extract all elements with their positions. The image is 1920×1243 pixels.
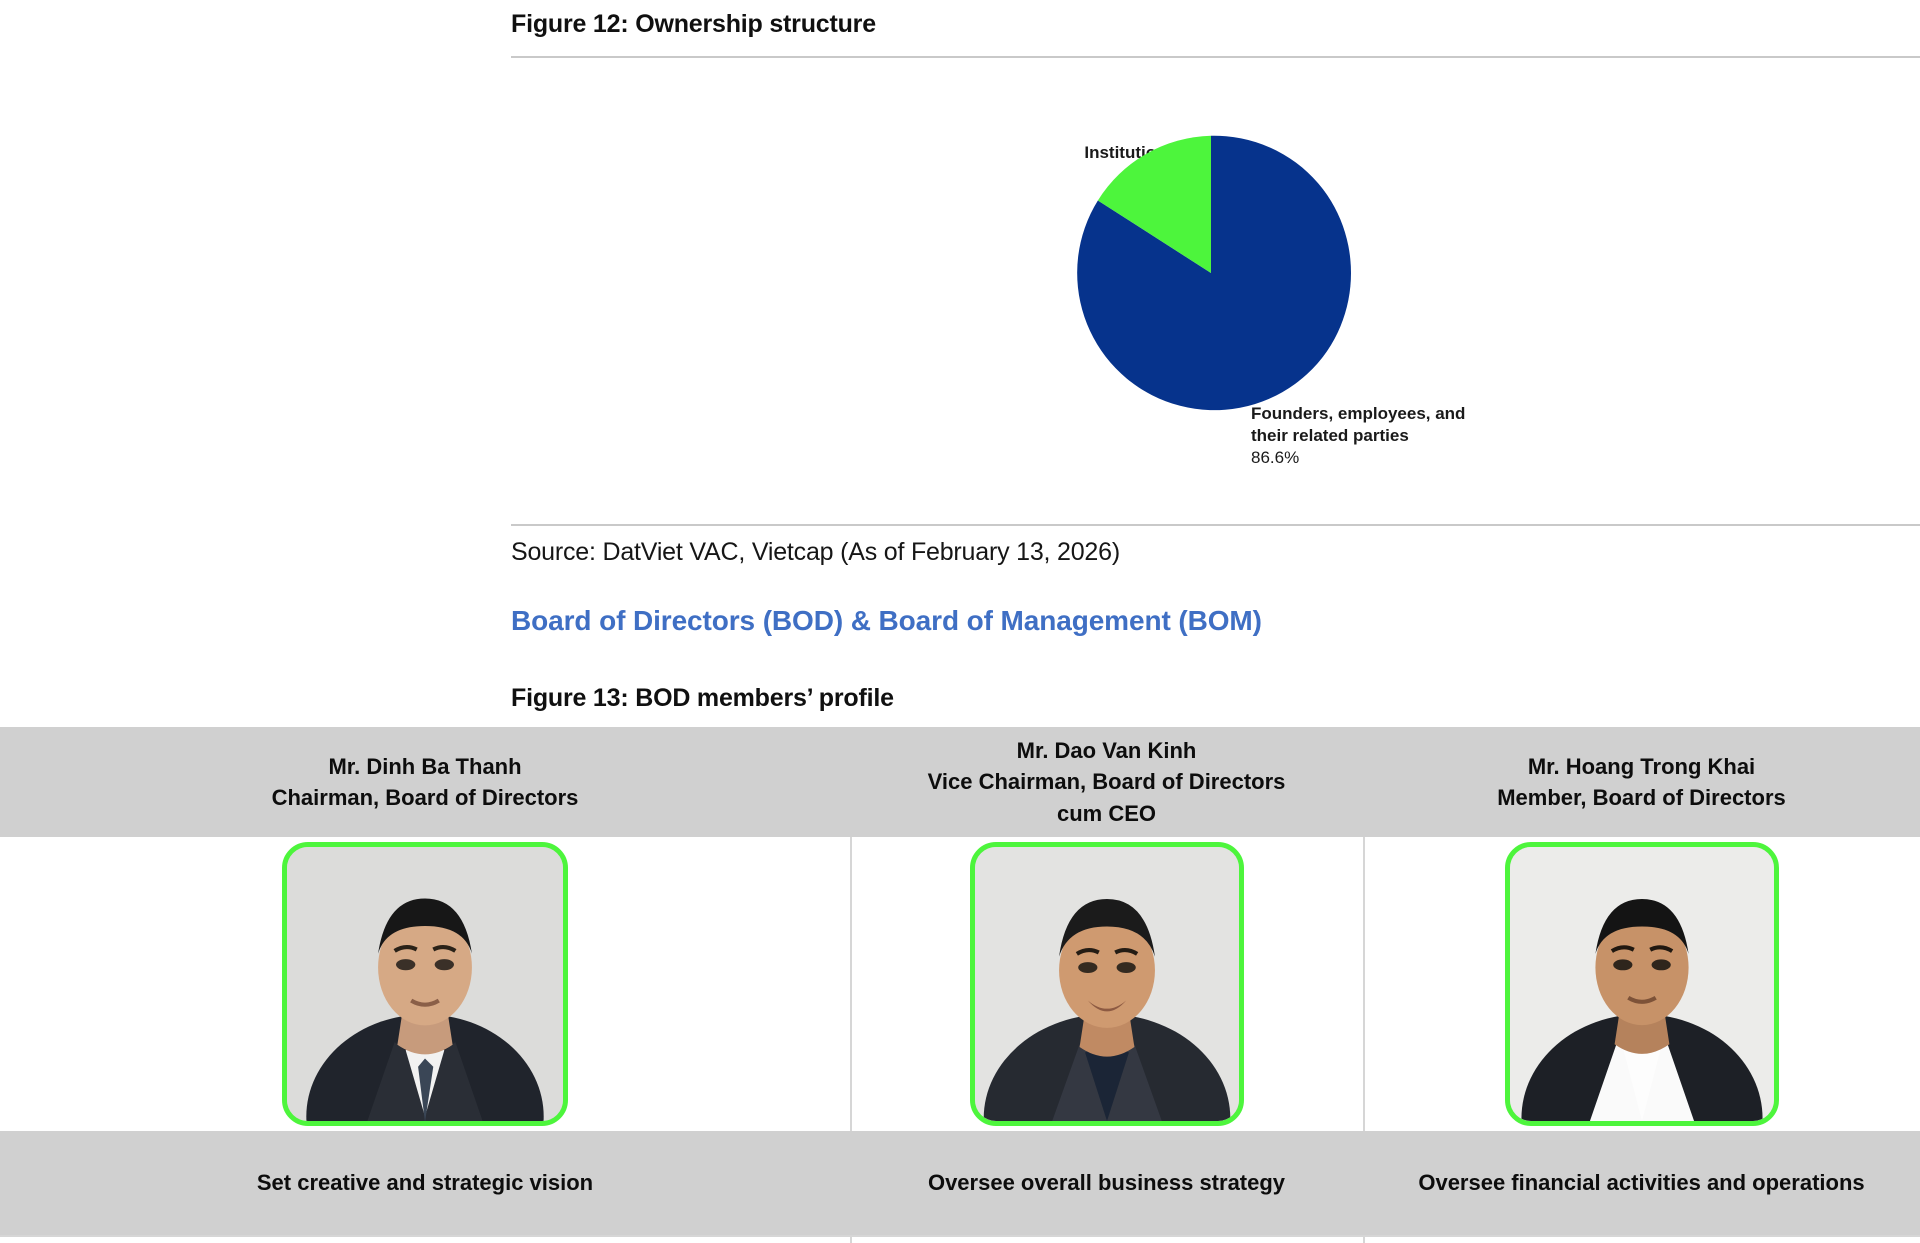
bod-photo-cell-1: [0, 837, 850, 1131]
pie-label-founders-line1: Founders, employees, and: [1251, 403, 1631, 425]
bod-member-role-2-line1: Vice Chairman, Board of Directors: [928, 766, 1286, 797]
pie-label-founders: Founders, employees, and their related p…: [1251, 403, 1631, 468]
bod-member-role-2-line2: cum CEO: [1057, 798, 1156, 829]
bod-member-portrait-3: [1505, 842, 1779, 1126]
bod-table-duty-row: Set creative and strategic vision Overse…: [0, 1131, 1920, 1235]
portrait-image-1: [287, 847, 563, 1121]
portrait-image-2: [975, 847, 1239, 1121]
bod-column-divider-tick-1: [850, 1235, 852, 1243]
figure-12-title: Figure 12: Ownership structure: [511, 10, 876, 39]
document-page: Figure 12: Ownership structure Instituti…: [0, 0, 1920, 1243]
figure-12-bottom-rule: [511, 524, 1920, 526]
bod-member-role-3-line1: Member, Board of Directors: [1497, 782, 1786, 813]
ownership-pie-chart: Institutional investors 13.4% Founders, …: [511, 58, 1920, 524]
bod-member-duty-2: Oversee overall business strategy: [850, 1131, 1363, 1235]
bod-table-photo-row: [0, 837, 1920, 1131]
figure-13-title: Figure 13: BOD members’ profile: [511, 684, 894, 713]
bod-member-portrait-2: [970, 842, 1244, 1126]
bod-table-bottom-rule: [0, 1235, 1920, 1237]
bod-member-name-3: Mr. Hoang Trong Khai: [1528, 751, 1755, 782]
bod-member-role-1-line1: Chairman, Board of Directors: [272, 782, 579, 813]
pie-label-founders-percent: 86.6%: [1251, 447, 1631, 469]
pie-label-founders-line2: their related parties: [1251, 425, 1631, 447]
portrait-image-3: [1510, 847, 1774, 1121]
bod-member-name-2: Mr. Dao Van Kinh: [1017, 735, 1197, 766]
bod-member-duty-1: Set creative and strategic vision: [0, 1131, 850, 1235]
bod-photo-cell-2: [850, 837, 1363, 1131]
bod-photo-cell-3: [1363, 837, 1920, 1131]
figure-12-source: Source: DatViet VAC, Vietcap (As of Febr…: [511, 538, 1120, 567]
bod-header-cell-2: Mr. Dao Van Kinh Vice Chairman, Board of…: [850, 727, 1363, 837]
bod-table-header-row: Mr. Dinh Ba Thanh Chairman, Board of Dir…: [0, 727, 1920, 837]
section-heading-bod-bom: Board of Directors (BOD) & Board of Mana…: [511, 605, 1262, 637]
bod-members-table: Mr. Dinh Ba Thanh Chairman, Board of Dir…: [0, 727, 1920, 1243]
bod-column-divider-tick-2: [1363, 1235, 1365, 1243]
bod-header-cell-1: Mr. Dinh Ba Thanh Chairman, Board of Dir…: [0, 727, 850, 837]
bod-member-name-1: Mr. Dinh Ba Thanh: [328, 751, 521, 782]
pie-graphic-wrapper: [1071, 133, 1351, 413]
bod-member-portrait-1: [282, 842, 568, 1126]
bod-member-duty-3: Oversee financial activities and operati…: [1363, 1131, 1920, 1235]
bod-header-cell-3: Mr. Hoang Trong Khai Member, Board of Di…: [1363, 727, 1920, 837]
pie-svg: [1071, 133, 1351, 413]
